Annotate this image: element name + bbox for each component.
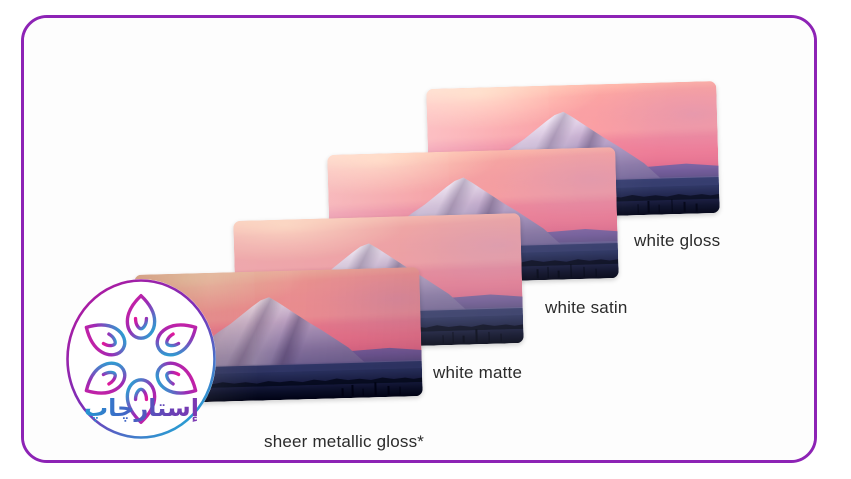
product-showcase-stage: white gloss white satin white matte shee… (24, 18, 814, 460)
finish-label-white-gloss: white gloss (634, 231, 720, 251)
brand-name-text: إستارچاپ (60, 394, 223, 422)
brand-watermark: إستارچاپ (60, 277, 223, 452)
flower-petal-logo-icon (60, 277, 223, 452)
finish-label-sheer-metallic-gloss: sheer metallic gloss* (264, 432, 424, 452)
finish-label-white-matte: white matte (433, 363, 522, 383)
bordered-content-frame: white gloss white satin white matte shee… (21, 15, 817, 463)
finish-label-white-satin: white satin (545, 298, 628, 318)
